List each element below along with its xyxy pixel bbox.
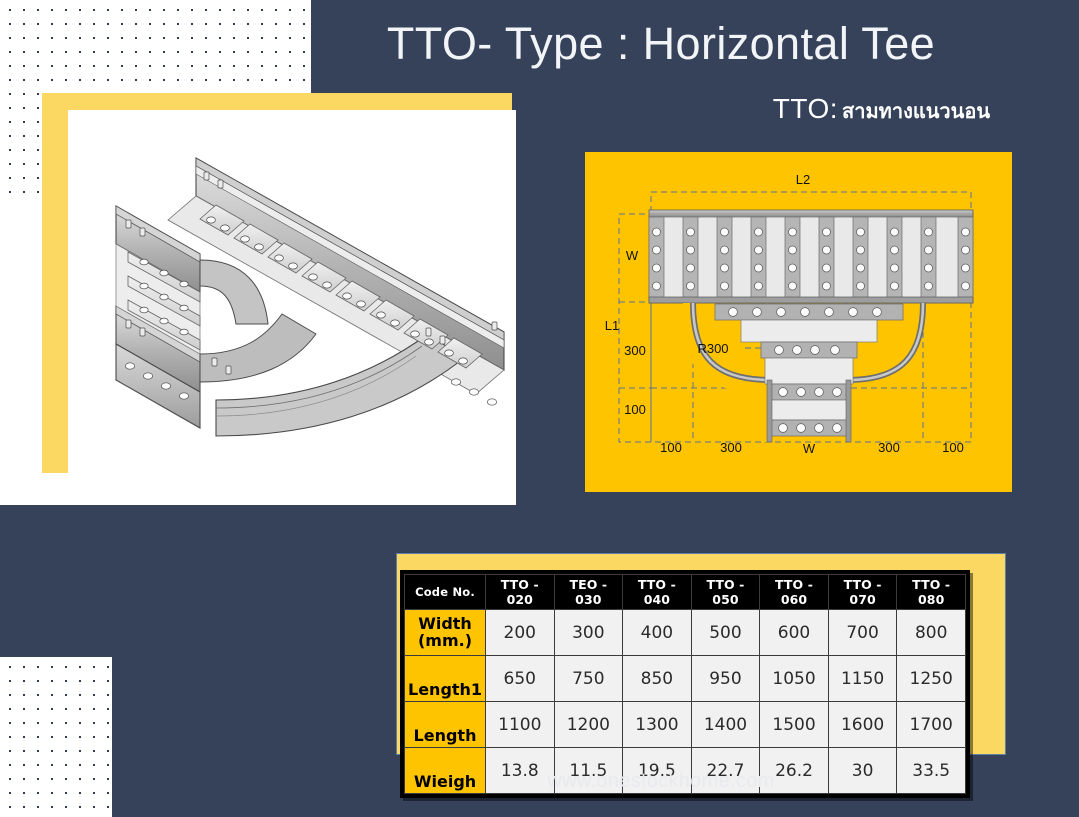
- dot-pattern-bottom-left: [0, 657, 112, 817]
- technical-drawing-panel: L2 W L1 300 100 R300 100 300 W 300 100: [585, 152, 1012, 492]
- cell-width-5: 700: [828, 610, 897, 656]
- spec-table-head: Code No. TTO - 020 TEO - 030 TTO - 040 T…: [405, 575, 966, 610]
- table-row: Width (mm.) 200 300 400 500 600 700 800: [405, 610, 966, 656]
- cell-length1-1: 750: [554, 656, 623, 702]
- cell-length-3: 1400: [691, 702, 760, 748]
- spec-table-body: Width (mm.) 200 300 400 500 600 700 800 …: [405, 610, 966, 794]
- row-header-length: Length: [405, 702, 486, 748]
- cell-width-0: 200: [486, 610, 555, 656]
- slide-canvas: TTO- Type : Horizontal Tee TTO:สามทางแนว…: [0, 0, 1079, 817]
- dim-label-100-vert: 100: [624, 402, 646, 417]
- cell-length-6: 1700: [897, 702, 966, 748]
- cable-tray-tee-3d-illustration: [68, 110, 516, 505]
- dim-label-300-left: 300: [720, 440, 742, 455]
- cell-width-4: 600: [760, 610, 829, 656]
- dim-label-w-left: W: [626, 248, 639, 263]
- cell-length-5: 1600: [828, 702, 897, 748]
- cell-length1-4: 1050: [760, 656, 829, 702]
- horizontal-tee-dimension-drawing: L2 W L1 300 100 R300 100 300 W 300 100: [585, 152, 1012, 492]
- spec-table: Code No. TTO - 020 TEO - 030 TTO - 040 T…: [404, 574, 966, 794]
- column-header-3: TTO - 050: [691, 575, 760, 610]
- dim-label-w-bottom: W: [803, 441, 816, 456]
- dim-label-100-left: 100: [660, 440, 682, 455]
- table-row: Length1 650 750 850 950 1050 1150 1250: [405, 656, 966, 702]
- product-photo-card: [68, 110, 516, 505]
- cell-length1-5: 1150: [828, 656, 897, 702]
- subtitle-thai-text: สามทางแนวนอน: [842, 101, 990, 123]
- cell-width-2: 400: [623, 610, 692, 656]
- website-url[interactable]: www.onestockhome.com: [311, 770, 1011, 793]
- dim-label-300-right: 300: [878, 440, 900, 455]
- cell-length-4: 1500: [760, 702, 829, 748]
- cell-length1-2: 850: [623, 656, 692, 702]
- table-row: Length 1100 1200 1300 1400 1500 1600 170…: [405, 702, 966, 748]
- dim-label-l2: L2: [796, 172, 810, 187]
- dim-label-r300: R300: [697, 341, 728, 356]
- table-header-row: Code No. TTO - 020 TEO - 030 TTO - 040 T…: [405, 575, 966, 610]
- cell-width-6: 800: [897, 610, 966, 656]
- page-title: TTO- Type : Horizontal Tee: [311, 18, 1011, 70]
- table-corner-label: Code No.: [405, 575, 486, 610]
- cell-width-1: 300: [554, 610, 623, 656]
- row-header-width-line2: (mm.): [408, 633, 482, 649]
- dim-label-300-vert: 300: [624, 343, 646, 358]
- cell-length1-3: 950: [691, 656, 760, 702]
- row-header-width: Width (mm.): [405, 610, 486, 656]
- dim-label-100-right: 100: [942, 440, 964, 455]
- column-header-2: TTO - 040: [623, 575, 692, 610]
- cell-length1-0: 650: [486, 656, 555, 702]
- cell-length-2: 1300: [623, 702, 692, 748]
- row-header-length1: Length1: [405, 656, 486, 702]
- column-header-0: TTO - 020: [486, 575, 555, 610]
- spec-table-container: Code No. TTO - 020 TEO - 030 TTO - 040 T…: [400, 570, 970, 798]
- dim-label-l1: L1: [605, 318, 619, 333]
- column-header-6: TTO - 080: [897, 575, 966, 610]
- cell-length-0: 1100: [486, 702, 555, 748]
- column-header-1: TEO - 030: [554, 575, 623, 610]
- cell-length-1: 1200: [554, 702, 623, 748]
- cell-width-3: 500: [691, 610, 760, 656]
- subtitle-code: TTO:: [773, 93, 838, 124]
- column-header-4: TTO - 060: [760, 575, 829, 610]
- cell-length1-6: 1250: [897, 656, 966, 702]
- column-header-5: TTO - 070: [828, 575, 897, 610]
